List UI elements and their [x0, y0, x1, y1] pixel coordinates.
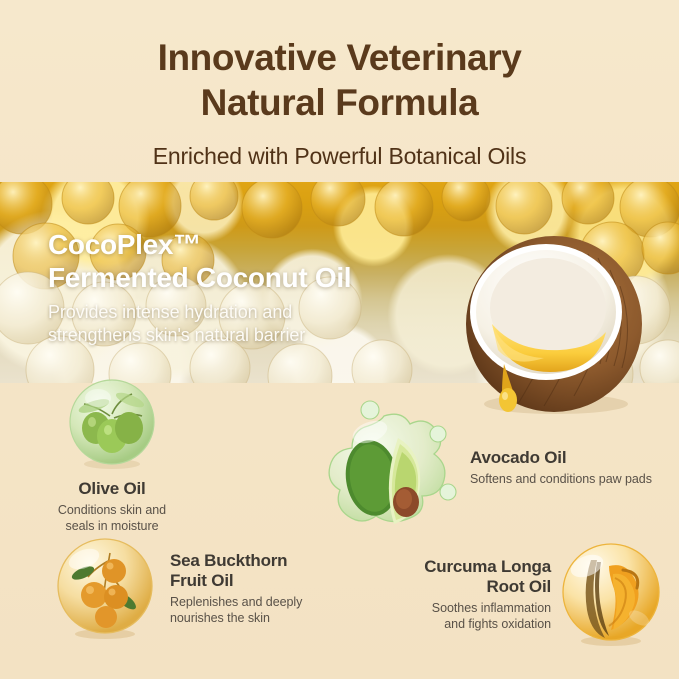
coconut-half-icon: [448, 228, 660, 428]
hero-heading-line-1: CocoPlex™: [48, 228, 351, 261]
ingredient-desc-avocado: Softens and conditions paw pads: [470, 471, 652, 487]
page-header: Innovative Veterinary Natural Formula En…: [0, 0, 679, 182]
page-title-line-1: Innovative Veterinary: [0, 35, 679, 80]
ingredient-name-buckthorn-line-2: Fruit Oil: [170, 571, 302, 591]
ingredient-name-curcuma-line-1: Curcuma Longa: [400, 557, 551, 577]
ingredient-desc-curcuma-line-2: and fights oxidation: [400, 616, 551, 632]
page-subtitle: Enriched with Powerful Botanical Oils: [0, 142, 679, 170]
hero-desc-line-2: strengthens skin's natural barrier: [48, 324, 351, 347]
ingredient-name-buckthorn-line-1: Sea Buckthorn: [170, 551, 302, 571]
hero-desc-line-1: Provides intense hydration and: [48, 301, 351, 324]
hero-heading-line-2: Fermented Coconut Oil: [48, 261, 351, 294]
avocado-droplet-icon: [322, 398, 460, 536]
ingredient-copy-buckthorn: Sea Buckthorn Fruit Oil Replenishes and …: [170, 551, 302, 626]
product-infographic: Innovative Veterinary Natural Formula En…: [0, 0, 679, 679]
page-title-line-2: Natural Formula: [0, 80, 679, 125]
ingredient-copy-curcuma: Curcuma Longa Root Oil Soothes inflammat…: [400, 557, 551, 632]
ingredient-olive-oil: Olive Oil Conditions skin and seals in m…: [42, 378, 182, 534]
ingredient-desc-buckthorn-line-1: Replenishes and deeply: [170, 594, 302, 610]
ingredient-curcuma-longa-root-oil: Curcuma Longa Root Oil Soothes inflammat…: [400, 540, 665, 648]
ingredient-name-avocado: Avocado Oil: [470, 448, 652, 468]
turmeric-sphere-icon: [557, 540, 665, 648]
ingredient-copy-avocado: Avocado Oil Softens and conditions paw p…: [470, 448, 652, 487]
sea-buckthorn-sphere-icon: [52, 535, 158, 641]
hero-text-block: CocoPlex™ Fermented Coconut Oil Provides…: [48, 228, 351, 347]
ingredient-desc-curcuma-line-1: Soothes inflammation: [400, 600, 551, 616]
ingredient-desc-buckthorn-line-2: nourishes the skin: [170, 610, 302, 626]
ingredient-desc-olive-line-1: Conditions skin and: [42, 502, 182, 518]
ingredient-name-olive: Olive Oil: [42, 479, 182, 499]
ingredient-desc-olive-line-2: seals in moisture: [42, 518, 182, 534]
olive-sphere-icon: [64, 378, 160, 470]
ingredient-sea-buckthorn-fruit-oil: Sea Buckthorn Fruit Oil Replenishes and …: [52, 535, 352, 641]
ingredient-name-curcuma-line-2: Root Oil: [400, 577, 551, 597]
